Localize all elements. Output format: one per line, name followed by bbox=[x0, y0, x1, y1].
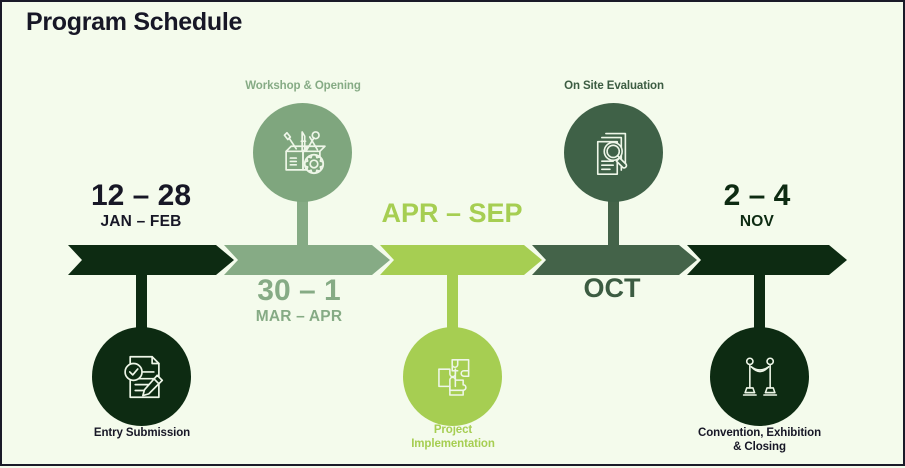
period-label-1: 12 – 28 JAN – FEB bbox=[66, 180, 216, 231]
document-magnifier-icon bbox=[588, 127, 640, 179]
node-circle-convention-exhibition[interactable] bbox=[710, 327, 809, 426]
document-check-pencil-icon bbox=[115, 350, 169, 404]
node-circle-entry-submission[interactable] bbox=[92, 327, 191, 426]
node-caption-line1: Entry Submission bbox=[62, 426, 222, 440]
timeline-segment-1 bbox=[68, 245, 234, 275]
node-caption-line1: On Site Evaluation bbox=[534, 79, 694, 93]
period-days-2: 30 – 1 bbox=[224, 275, 374, 307]
period-months-2: MAR – APR bbox=[224, 308, 374, 327]
period-months-1: JAN – FEB bbox=[66, 213, 216, 232]
node-circle-on-site-evaluation[interactable] bbox=[564, 103, 663, 202]
period-label-3: APR – SEP bbox=[372, 199, 532, 228]
node-caption-line2: & Closing bbox=[667, 440, 852, 454]
period-months-5: NOV bbox=[692, 213, 822, 232]
velvet-rope-stanchion-icon bbox=[735, 352, 785, 402]
period-label-2: 30 – 1 MAR – APR bbox=[224, 275, 374, 326]
puzzle-pieces-icon bbox=[428, 352, 478, 402]
node-circle-project-implementation[interactable] bbox=[403, 327, 502, 426]
node-caption-on-site-evaluation: On Site Evaluation bbox=[534, 79, 694, 93]
period-days-3: APR – SEP bbox=[372, 199, 532, 227]
node-caption-line1: Workshop & Opening bbox=[222, 79, 384, 93]
node-caption-workshop-opening: Workshop & Opening bbox=[222, 79, 384, 93]
node-caption-entry-submission: Entry Submission bbox=[62, 426, 222, 440]
node-caption-convention-exhibition: Convention, Exhibition & Closing bbox=[667, 426, 852, 455]
period-days-1: 12 – 28 bbox=[66, 180, 216, 212]
timeline-segment-3 bbox=[380, 245, 542, 275]
toolbox-gear-icon bbox=[276, 126, 330, 180]
infographic-canvas: Program Schedule 12 – 28 JAN – FEB 30 – … bbox=[0, 0, 905, 466]
node-circle-workshop-opening[interactable] bbox=[253, 103, 352, 202]
period-days-4: OCT bbox=[532, 274, 692, 302]
page-title: Program Schedule bbox=[26, 8, 242, 37]
period-days-5: 2 – 4 bbox=[692, 180, 822, 212]
node-caption-line1: Convention, Exhibition bbox=[667, 426, 852, 440]
period-label-4: OCT bbox=[532, 274, 692, 303]
timeline-segment-5 bbox=[687, 245, 847, 275]
node-caption-line2: Implementation bbox=[373, 437, 533, 451]
node-caption-project-implementation: Project Implementation bbox=[373, 423, 533, 452]
node-caption-line1: Project bbox=[373, 423, 533, 437]
period-label-5: 2 – 4 NOV bbox=[692, 180, 822, 231]
